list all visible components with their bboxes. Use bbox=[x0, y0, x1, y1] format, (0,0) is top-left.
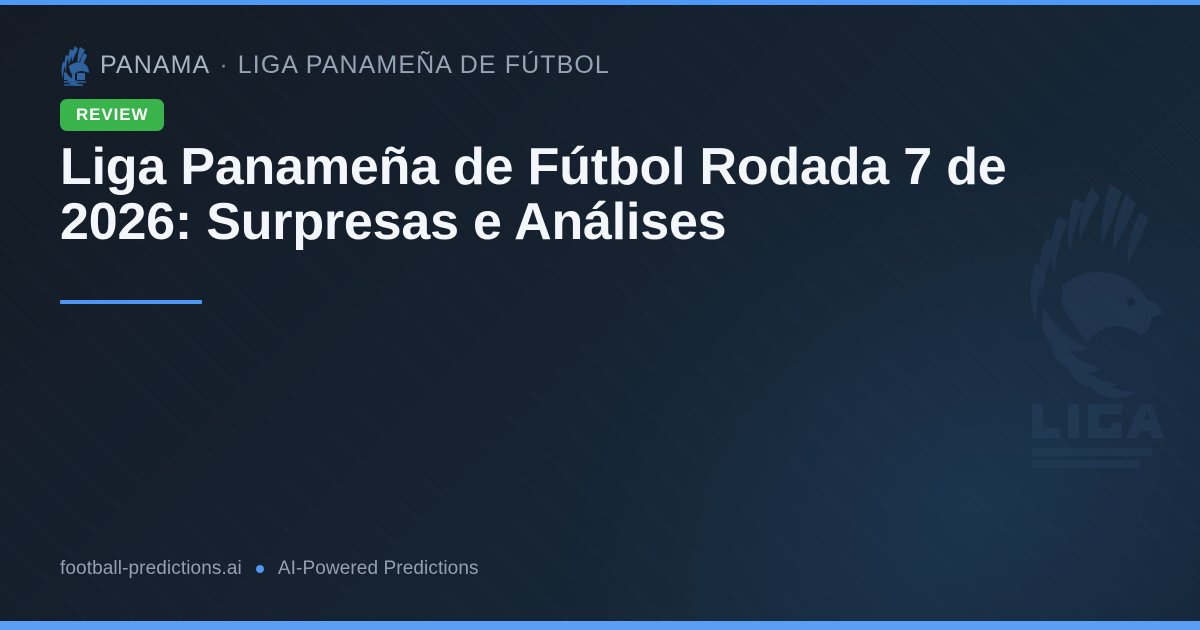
blue-dot-icon bbox=[256, 565, 264, 573]
footer-tagline: AI-Powered Predictions bbox=[278, 558, 479, 580]
content-column: PANAMA·LIGA PANAMEñA DE FÚTBOL REVIEW Li… bbox=[60, 0, 1070, 630]
page-title: Liga Panameña de Fútbol Rodada 7 de 2026… bbox=[60, 140, 1060, 250]
breadcrumb-league: LIGA PANAMEñA DE FÚTBOL bbox=[238, 51, 610, 79]
breadcrumb-text: PANAMA·LIGA PANAMEñA DE FÚTBOL bbox=[100, 51, 610, 80]
footer-site-name: football-predictions.ai bbox=[60, 558, 242, 580]
footer: football-predictions.ai AI-Powered Predi… bbox=[60, 555, 479, 583]
breadcrumb-country: PANAMA bbox=[100, 51, 210, 79]
liga-panamena-crest-icon bbox=[60, 44, 90, 86]
title-accent-line bbox=[60, 300, 202, 304]
breadcrumb: PANAMA·LIGA PANAMEñA DE FÚTBOL bbox=[60, 44, 610, 86]
status-badge: REVIEW bbox=[60, 99, 164, 131]
og-image-card: PANAMA·LIGA PANAMEñA DE FÚTBOL REVIEW Li… bbox=[0, 0, 1200, 630]
breadcrumb-separator: · bbox=[210, 51, 237, 79]
